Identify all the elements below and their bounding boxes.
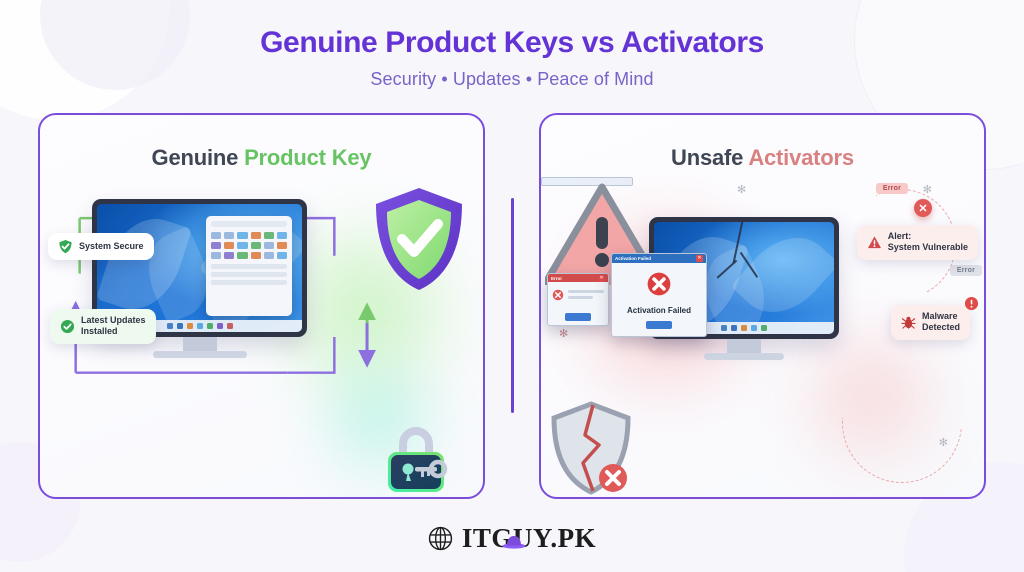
comparison-panels: Genuine Product Key [38,113,986,499]
monitor-stand-base [704,353,784,360]
taskbar-icon[interactable] [751,325,757,331]
right-illustration: ✕ ✻ ✻ ✻ ✻ Error ✕ [541,177,984,499]
badge-system-vulnerable: Alert: System Vulnerable [857,225,978,260]
badge-label: Latest Updates Installed [81,315,146,338]
logo-text: ITGUY.PK [462,523,596,554]
alert-badge-icon [964,296,979,311]
danger-arc [817,338,986,499]
badge-malware-detected: Malware Detected [891,305,970,340]
shield-check-icon [58,239,73,254]
panel-genuine-product-key: Genuine Product Key [38,113,485,499]
dialog-ok-button[interactable] [565,313,591,321]
monitor-stand-neck [727,339,761,353]
site-logo: ITGUY.PK [0,523,1024,554]
panel-left-heading-part1: Genuine [152,145,239,170]
page-subtitle: Security • Updates • Peace of Mind [0,69,1024,90]
start-menu-recommended[interactable] [211,264,287,285]
page-header: Genuine Product Keys vs Activators Secur… [0,26,1024,90]
check-circle-icon [60,319,75,334]
error-x-icon [552,289,564,301]
badge-label: Malware Detected [922,311,960,334]
taskbar-icon[interactable] [741,325,747,331]
taskbar-icon[interactable] [731,325,737,331]
taskbar-icon[interactable] [227,323,233,329]
dialog-body [548,282,608,307]
panel-right-heading-part2: Activators [748,145,854,170]
close-icon[interactable]: ✕ [598,275,605,282]
taskbar-icon[interactable] [721,325,727,331]
small-error-dialog[interactable]: Error ✕ [547,273,609,326]
error-x-icon [646,271,672,297]
dialog-titlebar: Activation Failed ✕ [612,254,706,263]
panel-unsafe-activators: Unsafe Activators [539,113,986,499]
dialog-message: Activation Failed [618,306,700,315]
badge-label: Alert: System Vulnerable [888,231,968,254]
error-chip: Error [950,265,982,276]
badge-latest-updates: Latest Updates Installed [50,309,156,344]
activation-failed-dialog[interactable]: Activation Failed ✕ Activation Failed [611,253,707,337]
taskbar-icon[interactable] [761,325,767,331]
close-icon[interactable]: ✕ [696,255,703,262]
dialog-title-text: Activation Failed [615,256,651,261]
dialog-ok-button[interactable] [646,321,672,329]
monitor-stand-base [153,351,247,358]
panel-left-heading: Genuine Product Key [40,145,483,171]
bug-icon [901,315,916,330]
taskbar-icon[interactable] [177,323,183,329]
left-illustration: System Secure Latest Updates Installed [40,177,483,499]
error-x-icon: ✕ [914,199,932,217]
start-menu-app-grid[interactable] [211,232,287,259]
globe-icon [428,526,453,551]
monitor-stand-neck [183,337,217,351]
virus-icon: ✻ [939,436,948,449]
panel-right-heading: Unsafe Activators [541,145,984,171]
padlock-key-icon [377,419,455,497]
page-title: Genuine Product Keys vs Activators [0,26,1024,60]
virus-icon: ✻ [923,183,932,196]
badge-system-secure: System Secure [48,233,154,260]
taskbar-icon[interactable] [167,323,173,329]
shield-check-icon [371,185,467,293]
panel-left-heading-part2: Product Key [244,145,371,170]
warning-triangle-icon [867,235,882,250]
badge-label: System Secure [79,241,144,252]
virus-icon: ✻ [737,183,746,196]
taskbar-icon[interactable] [197,323,203,329]
start-menu[interactable] [206,216,292,316]
taskbar-icon[interactable] [187,323,193,329]
dialog-titlebar: Error ✕ [548,274,608,282]
taskbar-icon[interactable] [217,323,223,329]
virus-icon: ✻ [559,327,568,340]
start-menu-search[interactable] [211,221,287,227]
error-chip: Error [876,183,908,194]
dialog-body: Activation Failed [612,263,706,336]
dialog-title-text: Error [551,276,562,281]
broken-shield-icon [549,401,633,495]
panel-right-heading-part1: Unsafe [671,145,743,170]
taskbar-icon[interactable] [207,323,213,329]
panel-divider [511,198,514,413]
